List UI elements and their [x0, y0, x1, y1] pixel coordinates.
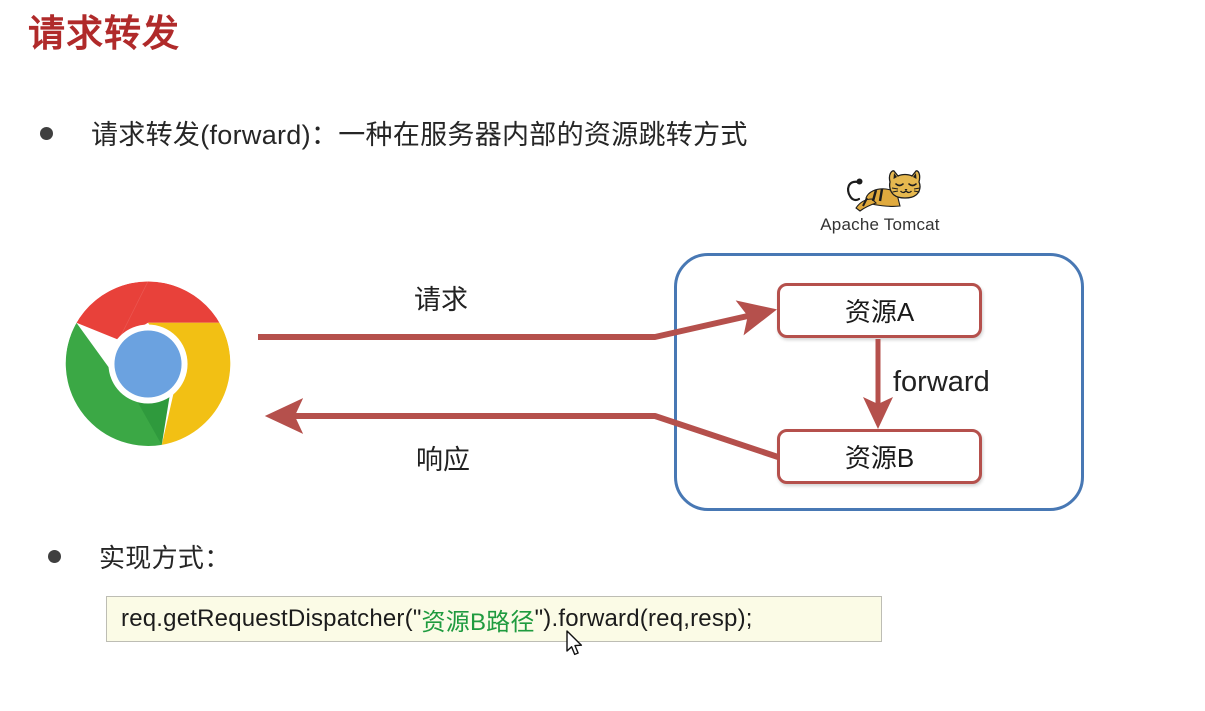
bullet-item-implementation: 实现方式： — [48, 538, 231, 575]
page-title: 请求转发 — [28, 10, 180, 58]
bullet-text-implementation: 实现方式： — [99, 538, 231, 575]
bullet-dot-icon — [40, 127, 53, 140]
request-arrow-label: 请求 — [414, 278, 468, 317]
resource-a-label: 资源A — [845, 292, 914, 329]
forward-arrow-label: forward — [893, 366, 990, 399]
tomcat-logo: Apache Tomcat — [800, 168, 960, 240]
resource-b-label: 资源B — [845, 438, 914, 475]
resource-a-box[interactable]: 资源A — [777, 283, 982, 338]
slide-canvas: 请求转发 请求转发(forward)：一种在服务器内部的资源跳转方式 实现方式： — [0, 0, 1205, 711]
resource-b-box[interactable]: 资源B — [777, 429, 982, 484]
bullet-text-definition: 请求转发(forward)：一种在服务器内部的资源跳转方式 — [91, 113, 748, 152]
tomcat-cat-icon — [832, 168, 928, 216]
code-highlight-path: 资源B路径 — [422, 602, 535, 637]
bullet-item-definition: 请求转发(forward)：一种在服务器内部的资源跳转方式 — [40, 113, 748, 152]
response-arrow-label: 响应 — [416, 438, 470, 477]
code-prefix: req.getRequestDispatcher(" — [121, 605, 422, 633]
chrome-logo — [62, 278, 234, 450]
tomcat-logo-caption: Apache Tomcat — [800, 215, 960, 235]
bullet-dot-icon — [48, 550, 61, 563]
mouse-cursor-icon — [565, 630, 585, 658]
code-suffix: ").forward(req,resp); — [535, 605, 753, 633]
code-snippet-block[interactable]: req.getRequestDispatcher("资源B路径").forwar… — [106, 596, 882, 642]
